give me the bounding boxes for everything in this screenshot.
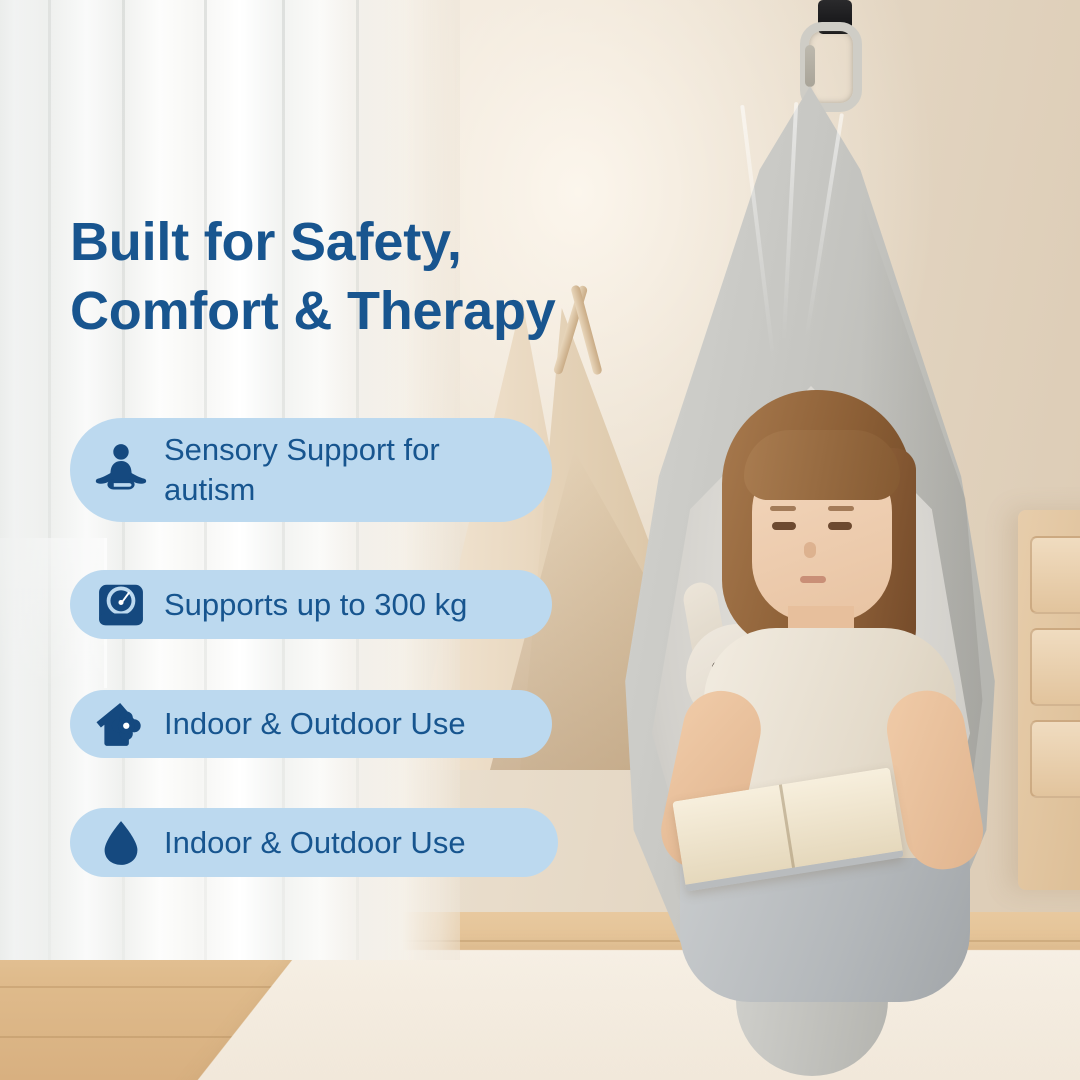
room-photo [0, 0, 1080, 1080]
headline-line-1: Built for Safety, [70, 208, 690, 277]
child-reading [660, 390, 990, 910]
promo-canvas: Built for Safety, Comfort & Therapy Sens… [0, 0, 1080, 1080]
feature-label: Sensory Support for autism [164, 430, 456, 510]
eyebrow [828, 506, 854, 511]
eye [772, 522, 796, 530]
feature-pill-sensory-support[interactable]: Sensory Support for autism [70, 418, 552, 522]
meditation-person-icon [90, 439, 152, 501]
feature-pill-weight-capacity[interactable]: Supports up to 300 kg [70, 570, 552, 639]
house-with-flower-icon [90, 693, 152, 755]
eyebrow [770, 506, 796, 511]
feature-pill-water-resistant[interactable]: Indoor & Outdoor Use [70, 808, 558, 877]
mouth [800, 576, 826, 583]
feature-label: Indoor & Outdoor Use [164, 704, 466, 744]
page-title: Built for Safety, Comfort & Therapy [70, 208, 690, 346]
eye [828, 522, 852, 530]
feature-label: Supports up to 300 kg [164, 585, 467, 625]
feature-pill-indoor-outdoor[interactable]: Indoor & Outdoor Use [70, 690, 552, 758]
weight-scale-icon [90, 574, 152, 636]
nose [804, 542, 816, 558]
water-droplet-icon [90, 812, 152, 874]
headline-line-2: Comfort & Therapy [70, 277, 690, 346]
hair-fringe [744, 430, 900, 500]
feature-label: Indoor & Outdoor Use [164, 823, 466, 863]
